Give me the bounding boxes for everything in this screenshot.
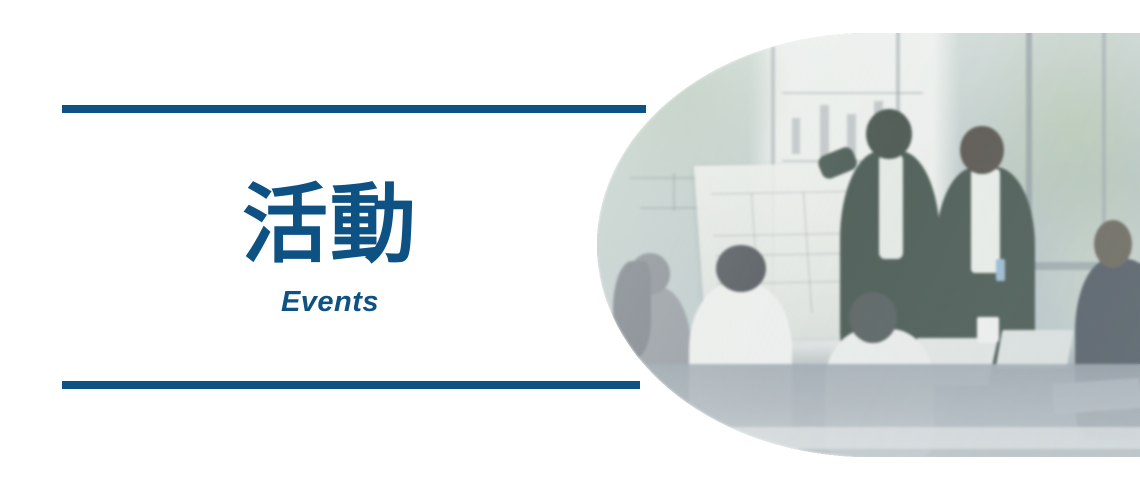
person-shirt (879, 154, 903, 259)
person-hair (613, 261, 651, 358)
person-head (866, 109, 912, 159)
id-badge-icon (996, 259, 1005, 280)
person-head (960, 126, 1003, 173)
person-shirt (971, 169, 1000, 273)
person-head (1094, 220, 1132, 269)
photo-scene-background (597, 33, 1140, 457)
events-banner: 活動 Events (0, 0, 1140, 500)
person-head (716, 245, 766, 292)
top-accent-rule (62, 105, 646, 113)
whiteboard-mark (673, 173, 675, 211)
whiteboard-mark (782, 92, 923, 94)
whiteboard-mark (820, 105, 829, 157)
whiteboard-mark (792, 118, 800, 154)
table-edge (706, 427, 1140, 448)
bottom-accent-rule (62, 381, 640, 389)
laptop-icon (995, 330, 1072, 368)
banner-text-block: 活動 Events (62, 150, 598, 350)
coffee-cup-icon (977, 317, 999, 342)
blueprint-line (803, 192, 812, 313)
banner-photo (597, 33, 1140, 457)
page-subtitle: Events (281, 286, 379, 319)
page-title: 活動 (242, 182, 418, 268)
person-head (849, 292, 897, 343)
